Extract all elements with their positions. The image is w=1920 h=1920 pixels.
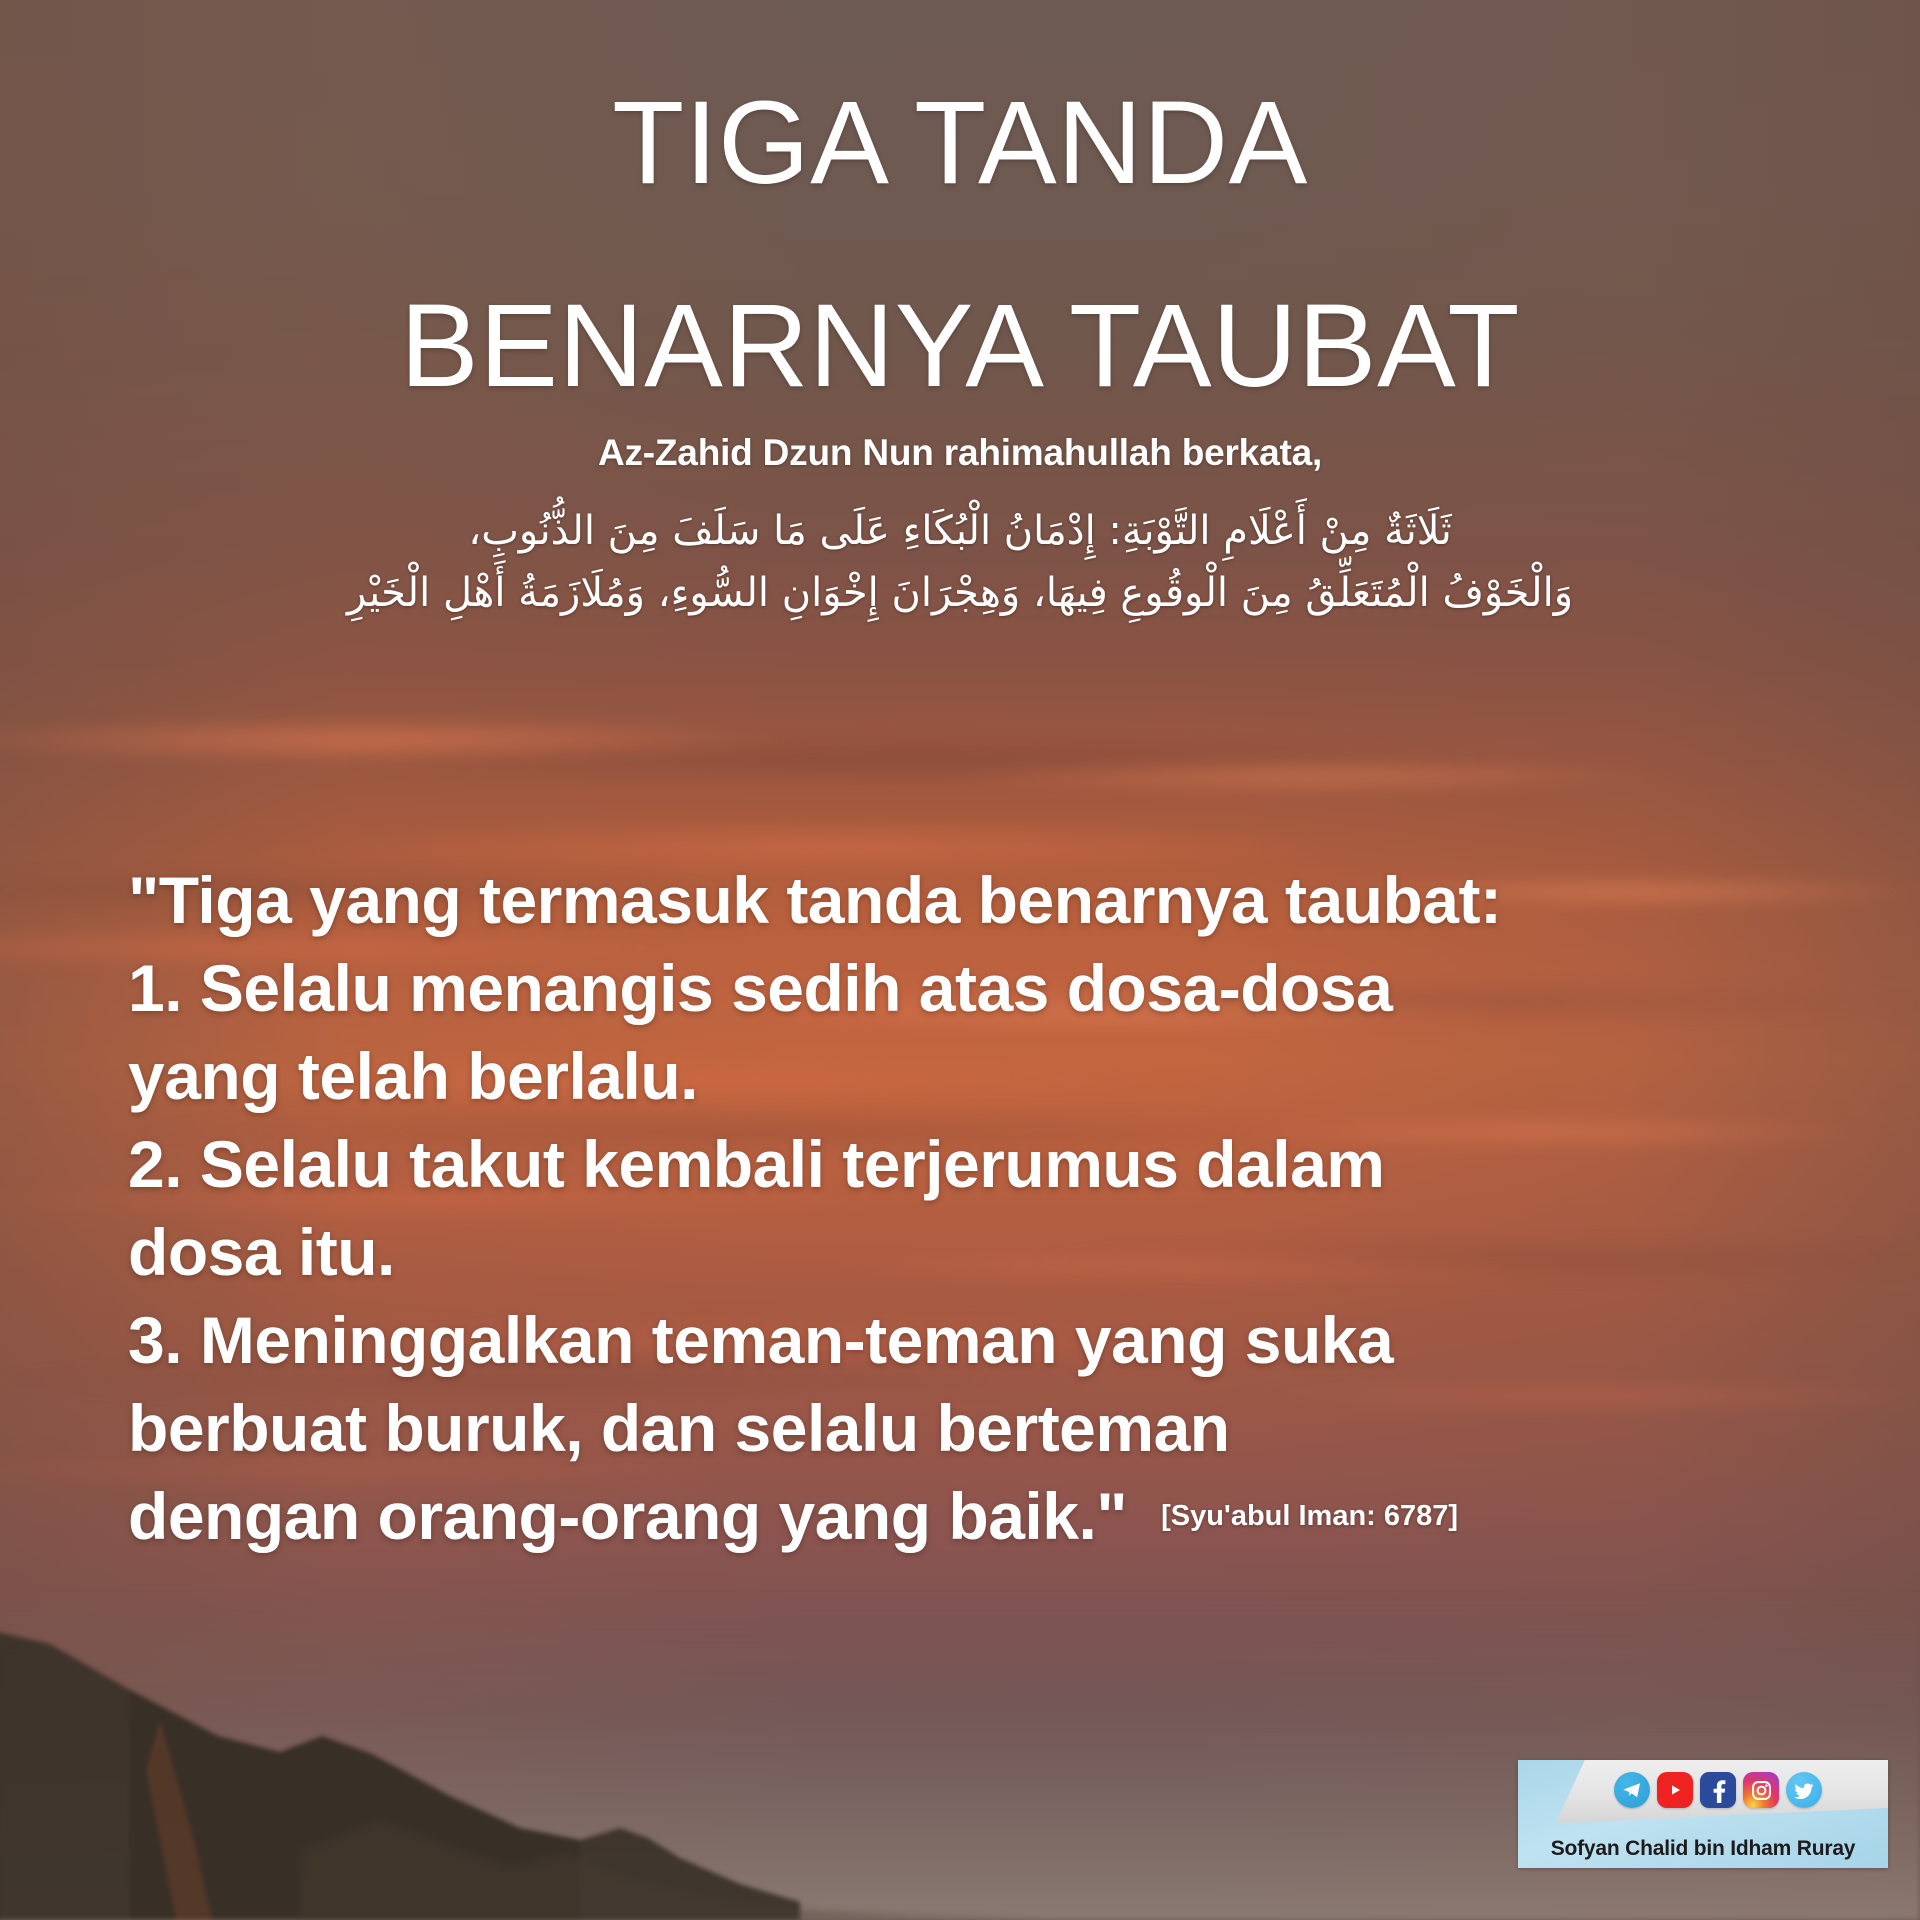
- arabic-quote: ثَلَاثَةٌ مِنْ أَعْلَامِ التَّوْبَةِ: إِ…: [110, 500, 1810, 625]
- title-line-1: TIGA TANDA: [0, 42, 1920, 245]
- translation-line-6: 3. Meninggalkan teman-teman yang suka: [128, 1296, 1860, 1384]
- translation-line-8-text: dengan orang-orang yang baik.": [128, 1479, 1127, 1553]
- youtube-icon: [1657, 1772, 1693, 1808]
- brand-name: Sofyan Chalid bin Idham Ruray: [1518, 1837, 1888, 1861]
- translation-line-3: yang telah berlalu.: [128, 1032, 1860, 1120]
- title-line-2: BENARNYA TAUBAT: [0, 245, 1920, 448]
- arabic-line-2: وَالْخَوْفُ الْمُتَعَلِّقُ مِنَ الْوقُوع…: [110, 562, 1810, 624]
- twitter-icon: [1786, 1772, 1822, 1808]
- social-icon-row: [1614, 1772, 1822, 1808]
- translation-line-2: 1. Selalu menangis sedih atas dosa-dosa: [128, 944, 1860, 1032]
- attribution-line: Az-Zahid Dzun Nun rahimahullah berkata,: [0, 432, 1920, 474]
- source-citation: [Syu'abul Iman: 6787]: [1161, 1472, 1458, 1560]
- poster: TIGA TANDA BENARNYA TAUBAT Az-Zahid Dzun…: [0, 0, 1920, 1920]
- translation-line-1: "Tiga yang termasuk tanda benarnya tauba…: [128, 856, 1860, 944]
- translation-text: "Tiga yang termasuk tanda benarnya tauba…: [128, 856, 1860, 1560]
- facebook-icon: [1700, 1772, 1736, 1808]
- telegram-icon: [1614, 1772, 1650, 1808]
- branding-card: Sofyan Chalid bin Idham Ruray: [1518, 1760, 1888, 1868]
- instagram-icon: [1743, 1772, 1779, 1808]
- translation-line-5: dosa itu.: [128, 1208, 1860, 1296]
- poster-content: TIGA TANDA BENARNYA TAUBAT Az-Zahid Dzun…: [0, 0, 1920, 1920]
- page-title: TIGA TANDA BENARNYA TAUBAT: [0, 42, 1920, 448]
- arabic-line-1: ثَلَاثَةٌ مِنْ أَعْلَامِ التَّوْبَةِ: إِ…: [110, 500, 1810, 562]
- translation-line-4: 2. Selalu takut kembali terjerumus dalam: [128, 1120, 1860, 1208]
- translation-line-7: berbuat buruk, dan selalu berteman: [128, 1384, 1860, 1472]
- translation-line-8: dengan orang-orang yang baik."[Syu'abul …: [128, 1472, 1860, 1560]
